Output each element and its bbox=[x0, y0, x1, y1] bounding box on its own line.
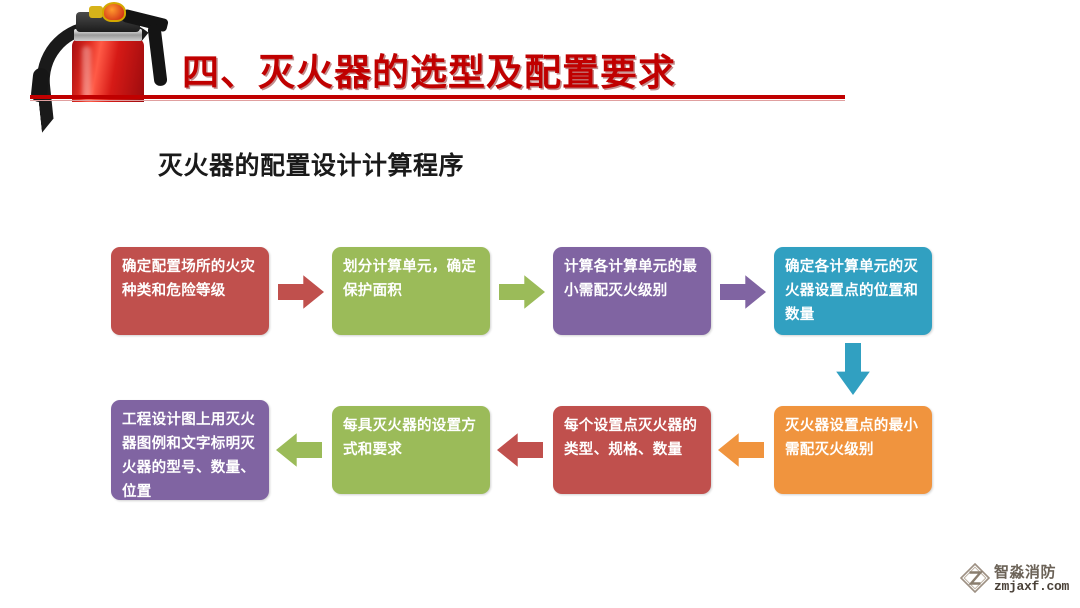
flow-arrow-right-icon bbox=[720, 272, 766, 312]
watermark-url: zmjaxf.com bbox=[994, 579, 1069, 594]
flow-step-box: 确定配置场所的火灾种类和危险等级 bbox=[111, 247, 269, 335]
flow-step-box: 工程设计图上用灭火器图例和文字标明灭火器的型号、数量、位置 bbox=[111, 400, 269, 500]
flow-arrow-left-icon bbox=[276, 430, 322, 470]
flow-step-box: 每个设置点灭火器的类型、规格、数量 bbox=[553, 406, 711, 494]
flow-arrow-right-icon bbox=[278, 272, 324, 312]
flow-step-box: 划分计算单元，确定保护面积 bbox=[332, 247, 490, 335]
flow-arrow-left-icon bbox=[718, 430, 764, 470]
watermark: 智淼消防 zmjaxf.com bbox=[958, 558, 1078, 604]
flow-step-box: 计算各计算单元的最小需配灭火级别 bbox=[553, 247, 711, 335]
flow-step-box: 确定各计算单元的灭火器设置点的位置和数量 bbox=[774, 247, 932, 335]
flow-arrow-left-icon bbox=[497, 430, 543, 470]
flow-step-box: 每具灭火器的设置方式和要求 bbox=[332, 406, 490, 494]
flow-arrow-down-icon bbox=[833, 343, 873, 395]
flow-arrow-right-icon bbox=[499, 272, 545, 312]
flow-step-box: 灭火器设置点的最小需配灭火级别 bbox=[774, 406, 932, 494]
flowchart: 确定配置场所的火灾种类和危险等级划分计算单元，确定保护面积计算各计算单元的最小需… bbox=[0, 0, 1080, 608]
company-logo-icon bbox=[960, 563, 990, 593]
